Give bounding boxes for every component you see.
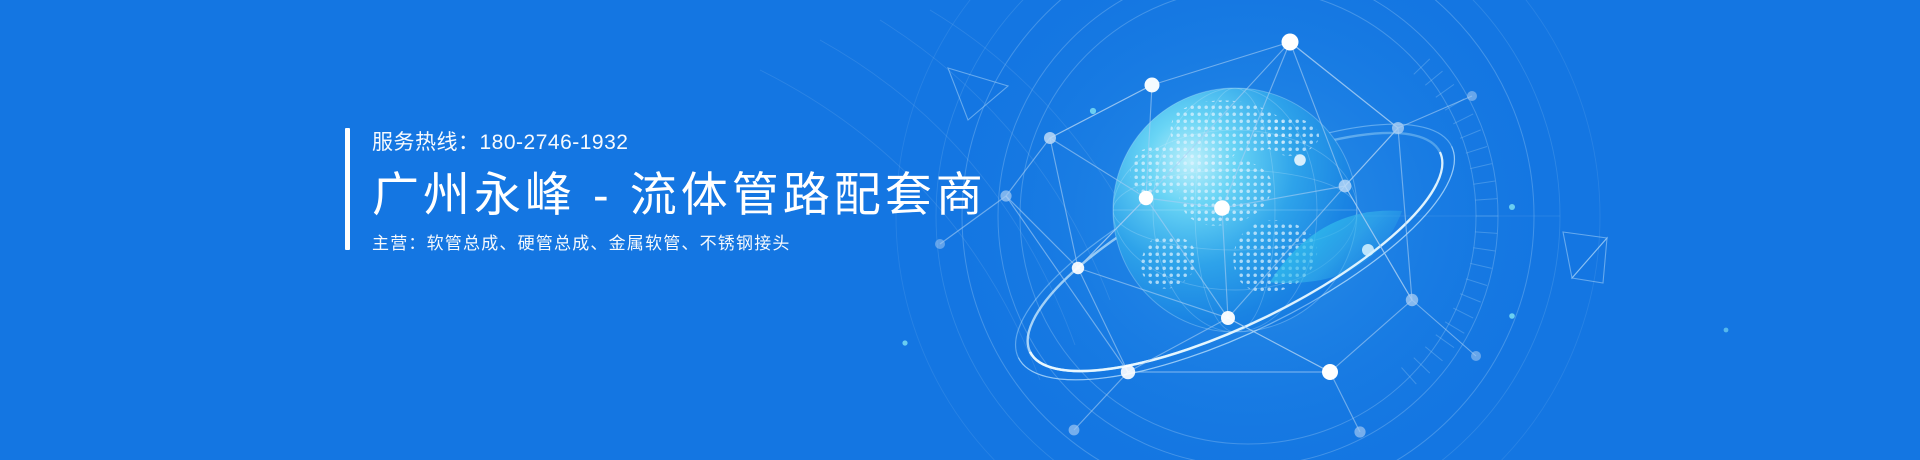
banner-text-column: 服务热线：180-2746-1932 广州永峰 - 流体管路配套商 主营：软管总… (372, 128, 987, 256)
accent-bar (345, 128, 350, 250)
service-hotline: 服务热线：180-2746-1932 (372, 130, 987, 156)
banner-text-block: 服务热线：180-2746-1932 广州永峰 - 流体管路配套商 主营：软管总… (345, 128, 987, 256)
hero-banner: 服务热线：180-2746-1932 广州永峰 - 流体管路配套商 主营：软管总… (0, 0, 1920, 460)
banner-subtitle: 主营：软管总成、硬管总成、金属软管、不锈钢接头 (372, 232, 987, 256)
banner-headline: 广州永峰 - 流体管路配套商 (372, 164, 987, 226)
